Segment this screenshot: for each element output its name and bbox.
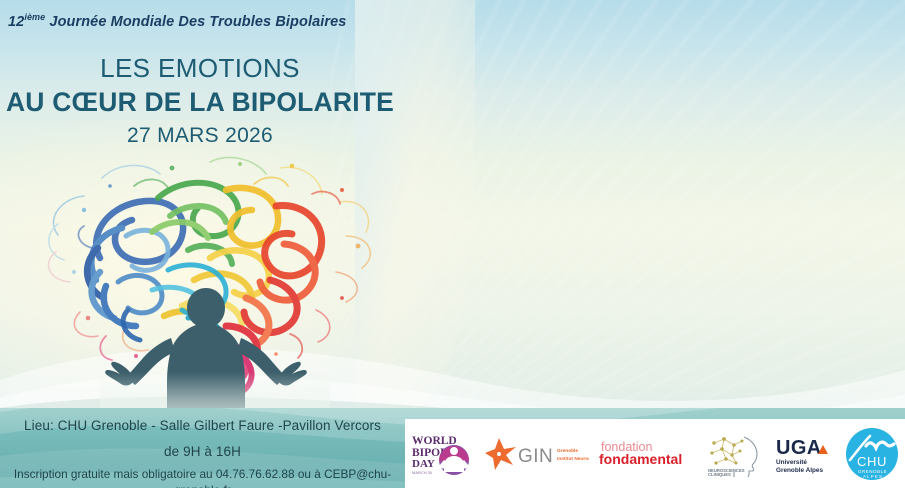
gin-wordmark: GIN: [518, 446, 553, 467]
logo-fondation-fondamental: fondation fondamental: [593, 419, 701, 488]
venue-line-1: Lieu: CHU Grenoble - Salle Gilbert Faure…: [0, 408, 405, 435]
kicker-number: 12: [8, 14, 24, 30]
logo-uga: UGA Université Grenoble Alpes: [767, 419, 839, 488]
wbd-line-4: MARCH 30: [412, 470, 433, 475]
gin-icon: GIN Grenoble Institut Neurosciences: [485, 437, 589, 471]
gin-sub-2: Institut Neurosciences: [557, 456, 589, 462]
chu-icon: CHU GRENOBLE ALPES: [844, 426, 900, 482]
logo-neurosciences-cliniques: NEUROSCIENCES CLINIQUES: [701, 419, 767, 488]
wbd-line-3: DAY: [412, 458, 435, 470]
registration-info: Inscription gratuite mais obligatoire au…: [0, 461, 405, 488]
uga-icon: UGA Université Grenoble Alpes: [771, 432, 835, 476]
logo-chu-grenoble-alpes: CHU GRENOBLE ALPES: [839, 419, 905, 488]
logo-world-bipolar-day: WORLD BIPOLAR DAY MARCH 30: [405, 419, 481, 488]
uga-sub-2: Grenoble Alpes: [776, 467, 823, 474]
wbd-line-1: WORLD: [412, 435, 457, 447]
uga-wordmark: UGA: [776, 437, 822, 459]
wbd-figure-mark: [439, 445, 469, 475]
fondamental-icon: fondation fondamental: [597, 438, 697, 470]
ff-line-2: fondamental: [599, 451, 682, 467]
chu-wordmark: CHU: [857, 454, 887, 469]
nc-line-2: CLINIQUES: [708, 472, 731, 477]
title-line-2: AU CŒUR DE LA BIPOLARITE: [0, 85, 400, 119]
kicker-ordinal-suffix: ième: [24, 12, 45, 22]
page-kicker: 12ième Journée Mondiale Des Troubles Bip…: [8, 12, 346, 30]
sponsor-logo-strip: WORLD BIPOLAR DAY MARCH 30 GIN: [405, 419, 905, 488]
venue-line-2: de 9H à 16H: [0, 435, 405, 461]
uga-sub-1: Université: [776, 459, 807, 466]
poster-canvas: 12ième Journée Mondiale Des Troubles Bip…: [0, 0, 905, 488]
page-title: LES EMOTIONS AU CŒUR DE LA BIPOLARITE 27…: [0, 52, 400, 153]
logo-gin: GIN Grenoble Institut Neurosciences: [481, 419, 593, 488]
neurosciences-cliniques-icon: NEUROSCIENCES CLINIQUES: [704, 431, 764, 477]
chu-sub-2: ALPES: [863, 474, 883, 479]
brain-silhouette-illustration: [40, 140, 380, 425]
title-line-1: LES EMOTIONS: [0, 52, 400, 85]
world-bipolar-day-icon: WORLD BIPOLAR DAY MARCH 30: [410, 432, 476, 476]
gin-sub-1: Grenoble: [557, 448, 578, 454]
kicker-text: Journée Mondiale Des Troubles Bipolaires: [49, 14, 346, 30]
